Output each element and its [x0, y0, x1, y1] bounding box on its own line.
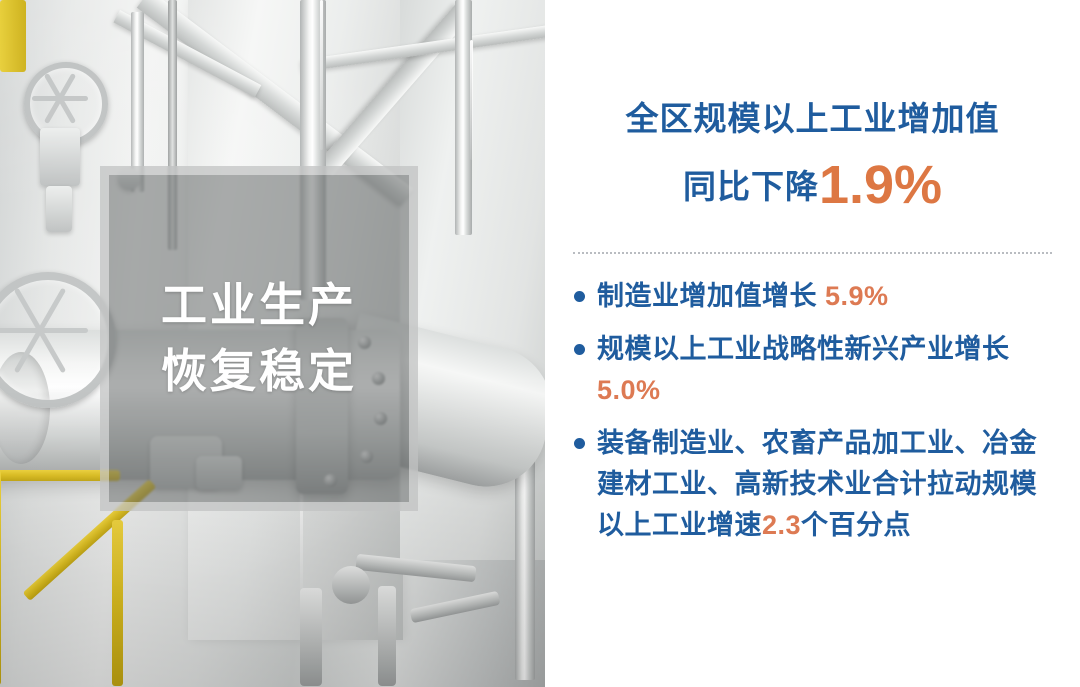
headline-line-2: 同比下降1.9% [573, 147, 1052, 224]
bullet-text-before: 规模以上工业战略性新兴产业增长 [597, 334, 1010, 364]
bullet-value: 5.0% [597, 375, 661, 405]
caption-line-1: 工业生产 [161, 273, 357, 338]
bullet-text-before: 制造业增加值增长 [597, 281, 825, 311]
bullet-value: 2.3 [762, 510, 801, 540]
list-item: 装备制造业、农畜产品加工业、冶金建材工业、高新技术业合计拉动规模以上工业增速2.… [571, 423, 1054, 546]
industrial-plant-photo: 工业生产 恢复稳定 [0, 0, 545, 687]
page-headline: 全区规模以上工业增加值 同比下降1.9% [545, 0, 1080, 224]
headline-line-2-prefix: 同比下降 [683, 168, 819, 205]
headline-line-1: 全区规模以上工业增加值 [626, 100, 1000, 137]
headline-percent-value: 1.9% [819, 155, 942, 215]
photo-caption-card: 工业生产 恢复稳定 [100, 166, 418, 511]
list-item: 规模以上工业战略性新兴产业增长5.0% [571, 329, 1054, 411]
statistics-bullet-list: 制造业增加值增长 5.9% 规模以上工业战略性新兴产业增长5.0% 装备制造业、… [545, 254, 1080, 546]
list-item: 制造业增加值增长 5.9% [571, 276, 1054, 317]
caption-line-2: 恢复稳定 [161, 339, 357, 404]
bullet-value: 5.9% [825, 281, 889, 311]
content-panel: 全区规模以上工业增加值 同比下降1.9% 制造业增加值增长 5.9% 规模以上工… [545, 0, 1080, 687]
bullet-text-after: 个百分点 [801, 510, 911, 540]
slide: 工业生产 恢复稳定 全区规模以上工业增加值 同比下降1.9% 制造业增加值增长 … [0, 0, 1080, 687]
